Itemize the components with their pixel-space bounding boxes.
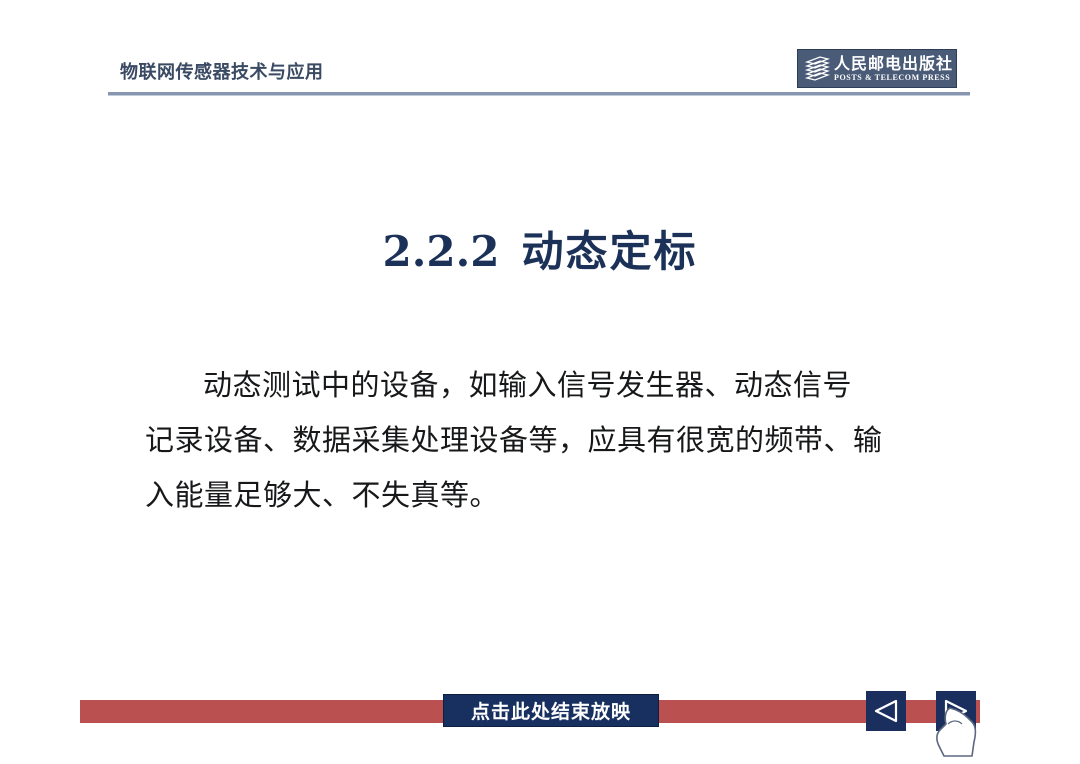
body-line: 入能量足够大、不失真等。 — [145, 468, 935, 523]
publisher-logo-text: 人民邮电出版社 POSTS & TELECOM PRESS — [834, 56, 953, 82]
slide-title: 2.2.2动态定标 — [0, 218, 1080, 279]
slide-body: 动态测试中的设备，如输入信号发生器、动态信号 记录设备、数据采集处理设备等，应具… — [145, 358, 935, 523]
slide-title-text: 动态定标 — [521, 227, 697, 276]
slide-canvas: 物联网传感器技术与应用 人民邮电出版社 POSTS & TELECOM PRES… — [0, 0, 1080, 764]
header-divider — [108, 92, 970, 96]
body-line: 动态测试中的设备，如输入信号发生器、动态信号 — [145, 358, 935, 413]
publisher-name-cn: 人民邮电出版社 — [834, 56, 953, 72]
publisher-name-en: POSTS & TELECOM PRESS — [834, 74, 953, 82]
end-show-button[interactable]: 点击此处结束放映 — [443, 694, 659, 727]
triangle-right-icon — [943, 698, 969, 724]
next-slide-button[interactable] — [936, 691, 976, 731]
stacked-pages-icon — [804, 55, 830, 83]
page-header-title: 物联网传感器技术与应用 — [120, 58, 324, 84]
slide-title-number: 2.2.2 — [383, 227, 500, 276]
end-show-button-label: 点击此处结束放映 — [471, 697, 631, 724]
triangle-left-icon — [873, 698, 899, 724]
publisher-logo: 人民邮电出版社 POSTS & TELECOM PRESS — [797, 49, 957, 88]
body-line: 记录设备、数据采集处理设备等，应具有很宽的频带、输 — [145, 413, 935, 468]
previous-slide-button[interactable] — [866, 691, 906, 731]
